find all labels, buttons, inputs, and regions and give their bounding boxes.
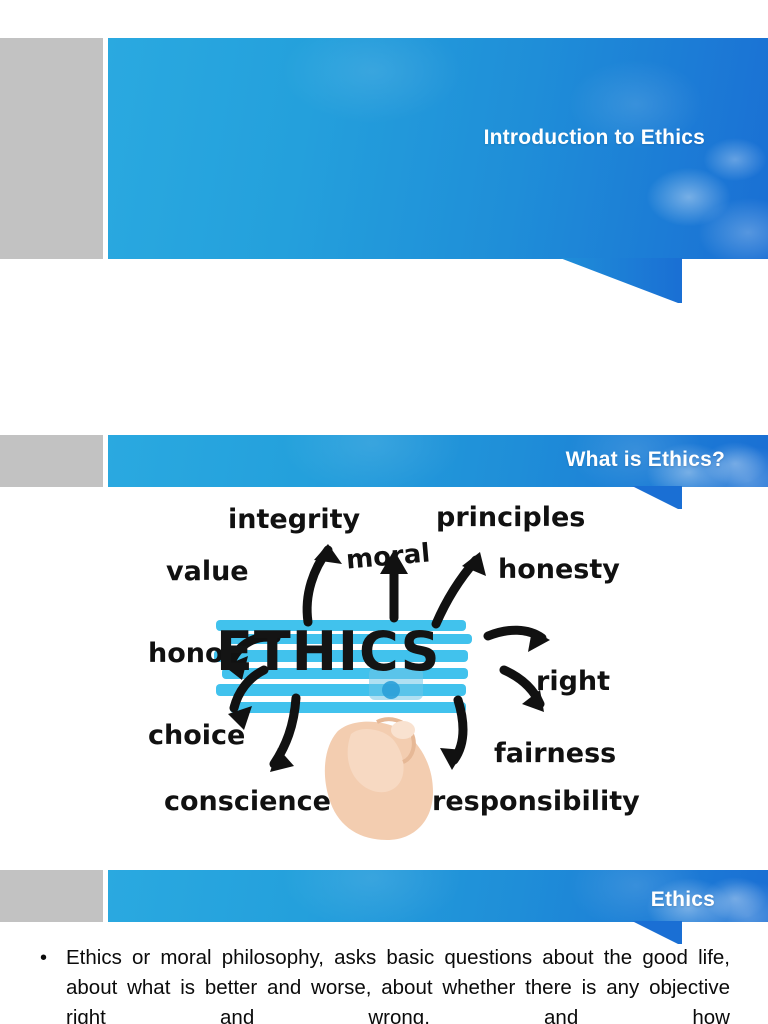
- slide-3-title: Ethics: [651, 888, 715, 912]
- slide-3-title-banner: Ethics: [108, 870, 768, 922]
- document-page: Introduction to Ethics What is Ethics?: [0, 0, 768, 1024]
- bullet-glyph-icon: •: [40, 943, 66, 973]
- slide-1-gray-accent-block: [0, 38, 103, 259]
- slide-3: Ethics • Ethics or moral philosophy, ask…: [0, 860, 768, 1024]
- ethics-center-word: ETHICS: [216, 623, 441, 681]
- slide-1-banner-tail: [560, 258, 685, 304]
- slide-1-title-banner: Introduction to Ethics: [108, 38, 768, 259]
- bullet-text: Ethics or moral philosophy, asks basic q…: [66, 943, 730, 1024]
- slide-1: Introduction to Ethics: [0, 0, 768, 430]
- slide-1-title: Introduction to Ethics: [484, 126, 705, 150]
- slide-2-gray-accent-block: [0, 435, 103, 487]
- slide-2-title-banner: What is Ethics?: [108, 435, 768, 487]
- slide-3-body: • Ethics or moral philosophy, asks basic…: [40, 943, 730, 1024]
- slide-2-banner-tail: [632, 486, 687, 510]
- slide-3-gray-accent-block: [0, 870, 103, 922]
- slide-2: What is Ethics?: [0, 430, 768, 860]
- slide-2-title: What is Ethics?: [566, 448, 725, 472]
- ethics-word-cloud-image: ETHICS integrity principles moral value …: [136, 498, 636, 843]
- bullet-item: • Ethics or moral philosophy, asks basic…: [40, 943, 730, 1024]
- slide-3-banner-tail: [632, 921, 687, 945]
